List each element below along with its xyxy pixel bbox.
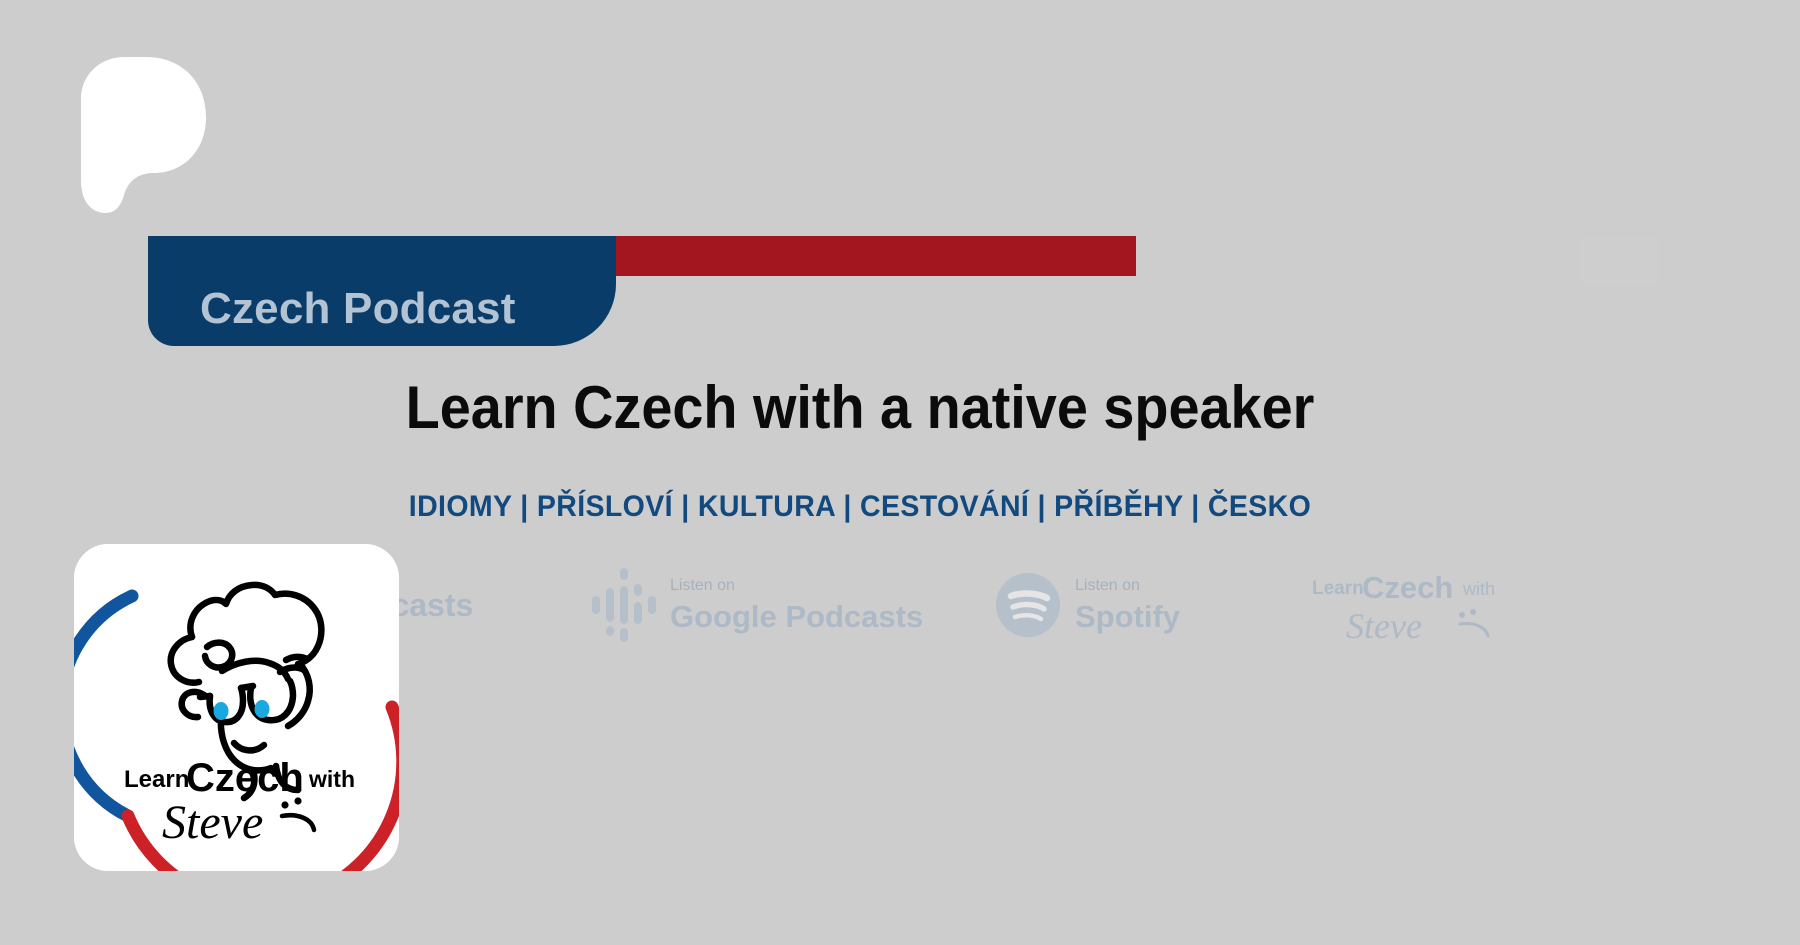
podcast-banner: Czech Podcast bbox=[0, 236, 1800, 346]
logo-eye-left bbox=[214, 702, 229, 720]
learn-czech-with-steve-logo-icon: Learn Czech with Steve bbox=[74, 544, 399, 871]
badge-spotify-name: Spotify bbox=[1075, 601, 1180, 632]
badge-spotify[interactable]: Listen on Spotify bbox=[995, 555, 1180, 655]
svg-text:with: with bbox=[308, 766, 355, 792]
google-podcasts-icon bbox=[590, 566, 656, 644]
channel-logo-card[interactable]: Learn Czech with Steve bbox=[74, 544, 399, 871]
svg-text:Czech: Czech bbox=[1362, 570, 1453, 605]
spotify-icon bbox=[995, 572, 1061, 638]
logo-eye-right bbox=[255, 700, 270, 718]
badge-spotify-eyebrow: Listen on bbox=[1075, 578, 1180, 594]
page-subtitle: IDIOMY | PŘÍSLOVÍ | KULTURA | CESTOVÁNÍ … bbox=[43, 490, 1677, 524]
banner-red-stripe bbox=[612, 236, 1136, 276]
badge-google-name: Google Podcasts bbox=[670, 601, 923, 632]
page-root: Czech Podcast Learn Czech with a native … bbox=[0, 0, 1800, 945]
svg-text:Learn: Learn bbox=[124, 766, 189, 793]
badge-spotify-text: Listen on Spotify bbox=[1075, 578, 1180, 632]
learn-czech-with-steve-wordmark-icon: Learn Czech with Steve bbox=[1310, 568, 1525, 650]
podcast-platform-badges: Podcasts Listen on Goog bbox=[255, 555, 1555, 655]
svg-text:with: with bbox=[1462, 579, 1495, 599]
banner-blue-block: Czech Podcast bbox=[148, 236, 616, 346]
badge-google-podcasts[interactable]: Listen on Google Podcasts bbox=[590, 555, 923, 655]
patreon-logo-icon[interactable] bbox=[78, 55, 210, 215]
banner-title: Czech Podcast bbox=[200, 284, 516, 334]
page-title: Learn Czech with a native speaker bbox=[60, 378, 1660, 438]
svg-text:Czech: Czech bbox=[186, 756, 304, 800]
badge-google-text: Listen on Google Podcasts bbox=[670, 578, 923, 632]
svg-text:Learn: Learn bbox=[1312, 578, 1364, 599]
svg-text:Steve: Steve bbox=[1346, 606, 1422, 646]
svg-text:Steve: Steve bbox=[162, 796, 263, 849]
badge-google-eyebrow: Listen on bbox=[670, 578, 923, 594]
badge-learn-czech-with-steve[interactable]: Learn Czech with Steve bbox=[1310, 559, 1525, 659]
